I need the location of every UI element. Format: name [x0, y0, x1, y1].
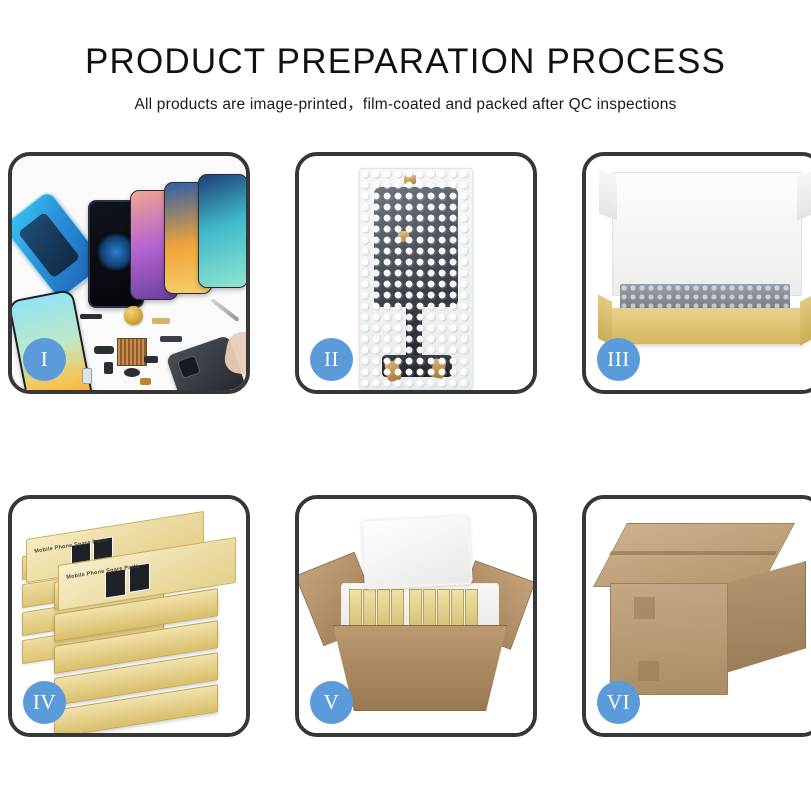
- step-badge-4: IV: [23, 681, 66, 724]
- bubble-wrap-bag: [359, 168, 473, 390]
- process-step-panel-1: I: [8, 152, 250, 394]
- foam-lid: [361, 514, 473, 590]
- gold-contact: [404, 175, 416, 184]
- step-badge-2: II: [310, 338, 353, 381]
- small-part: [104, 362, 113, 374]
- phone-screen-teal: [198, 174, 246, 288]
- carton-body: [333, 625, 507, 711]
- page-title: PRODUCT PREPARATION PROCESS: [0, 44, 811, 81]
- process-step-panel-2: II: [295, 152, 537, 394]
- small-part: [152, 318, 170, 324]
- tweezers-tool: [210, 298, 239, 322]
- gold-coin-part: [124, 306, 143, 325]
- gold-contact: [398, 231, 409, 242]
- box-lid-white: [612, 172, 802, 296]
- carton-seam: [609, 551, 777, 555]
- header: PRODUCT PREPARATION PROCESS All products…: [0, 0, 811, 114]
- carton-tape-mark: [638, 661, 659, 681]
- small-part: [140, 378, 151, 385]
- carton-tape-mark: [634, 597, 655, 619]
- process-step-panel-5: V: [295, 495, 537, 737]
- product-preparation-infographic: PRODUCT PREPARATION PROCESS All products…: [0, 0, 811, 811]
- step-badge-1: I: [23, 338, 66, 381]
- process-step-panel-6: VI: [582, 495, 811, 737]
- step-badge-5: V: [310, 681, 353, 724]
- step-badge-3: III: [597, 338, 640, 381]
- chip-grid-part: [117, 338, 147, 366]
- process-step-panel-3: III: [582, 152, 811, 394]
- small-part: [124, 368, 140, 377]
- small-part: [82, 368, 92, 384]
- small-part: [80, 314, 102, 319]
- process-step-panel-4: Mobile Phone Spare Parts Mobile Phone Sp…: [8, 495, 250, 737]
- small-part: [144, 356, 158, 363]
- small-part: [160, 336, 182, 342]
- page-subtitle: All products are image-printed，film-coat…: [0, 92, 811, 114]
- small-part: [94, 346, 114, 354]
- step-badge-6: VI: [597, 681, 640, 724]
- gold-box-base: [608, 308, 804, 344]
- carton-front-face: [610, 583, 728, 695]
- process-step-grid: I II: [8, 152, 803, 737]
- lcd-panel: [374, 187, 458, 307]
